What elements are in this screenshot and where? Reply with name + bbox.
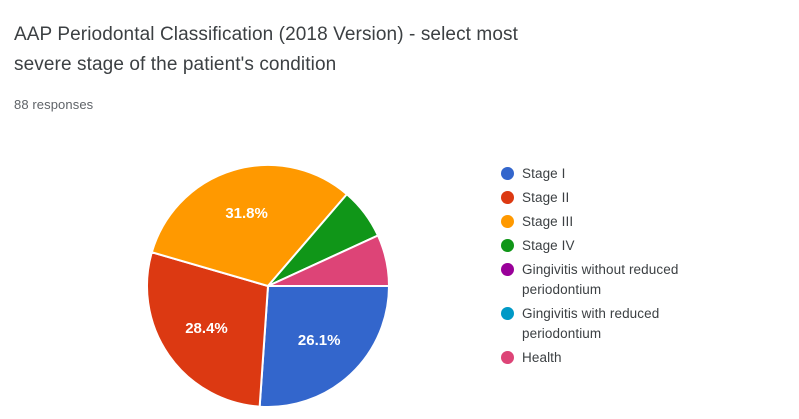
- legend-item-label: Stage I: [522, 164, 565, 184]
- legend-item-label: Gingivitis without reduced periodontium: [522, 260, 737, 300]
- chart-legend: Stage IStage IIStage IIIStage IVGingivit…: [501, 164, 751, 372]
- legend-item[interactable]: Gingivitis without reduced periodontium: [501, 260, 751, 300]
- legend-item[interactable]: Stage III: [501, 212, 751, 232]
- legend-color-swatch-icon: [501, 263, 514, 276]
- legend-color-swatch-icon: [501, 191, 514, 204]
- legend-item-label: Stage III: [522, 212, 573, 232]
- legend-item[interactable]: Stage I: [501, 164, 751, 184]
- legend-item[interactable]: Health: [501, 348, 751, 368]
- legend-item-label: Gingivitis with reduced periodontium: [522, 304, 737, 344]
- pie-chart-svg[interactable]: 26.1%28.4%31.8%: [140, 158, 400, 419]
- page-title: AAP Periodontal Classification (2018 Ver…: [14, 20, 654, 80]
- legend-color-swatch-icon: [501, 215, 514, 228]
- legend-item[interactable]: Stage II: [501, 188, 751, 208]
- legend-item[interactable]: Gingivitis with reduced periodontium: [501, 304, 751, 344]
- legend-color-swatch-icon: [501, 239, 514, 252]
- pie-slice-label: 28.4%: [185, 320, 228, 337]
- legend-item-label: Health: [522, 348, 562, 368]
- legend-color-swatch-icon: [501, 167, 514, 180]
- legend-item-label: Stage IV: [522, 236, 575, 256]
- legend-item[interactable]: Stage IV: [501, 236, 751, 256]
- pie-slice-label: 31.8%: [225, 205, 268, 222]
- pie-slice-label: 26.1%: [298, 332, 341, 349]
- pie-chart: 26.1%28.4%31.8%: [140, 158, 400, 419]
- pie-chart-area: 26.1%28.4%31.8% Stage IStage IIStage III…: [0, 140, 799, 419]
- legend-item-label: Stage II: [522, 188, 569, 208]
- legend-color-swatch-icon: [501, 351, 514, 364]
- legend-color-swatch-icon: [501, 307, 514, 320]
- response-count: 88 responses: [14, 96, 654, 114]
- chart-header: AAP Periodontal Classification (2018 Ver…: [14, 20, 654, 114]
